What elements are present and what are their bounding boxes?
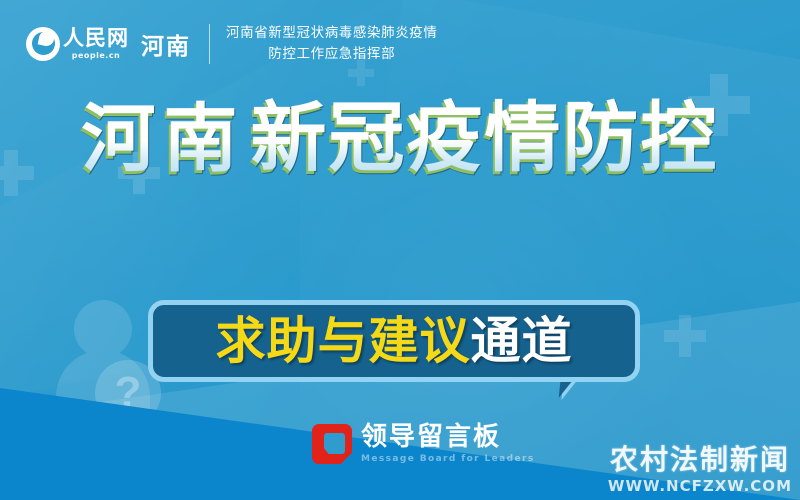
brand-domain-label: people.cn bbox=[63, 52, 129, 60]
organization-title: 河南省新型冠状病毒感染肺炎疫情 防控工作应急指挥部 bbox=[226, 23, 438, 65]
banner-plain-text: 通道 bbox=[471, 312, 573, 370]
organization-title-line1: 河南省新型冠状病毒感染肺炎疫情 bbox=[226, 23, 438, 44]
banner-text: 求助与建议通道 bbox=[216, 316, 573, 366]
help-channel-banner[interactable]: 求助与建议通道 bbox=[148, 300, 640, 382]
banner-highlight-text: 求助与建议 bbox=[216, 312, 471, 370]
brand-name-label: 人民网 bbox=[63, 28, 129, 49]
organization-title-line2: 防控工作应急指挥部 bbox=[226, 44, 438, 65]
watermark-url: WWW.NCFZXW.COM bbox=[608, 479, 792, 494]
message-board-logo-icon bbox=[312, 424, 352, 464]
message-board-logo[interactable]: 领导留言板 Message Board for Leaders bbox=[312, 424, 535, 464]
main-title-line2: 新冠疫情防控 bbox=[251, 95, 719, 181]
poster-canvas: ? 人民网 people.cn 河南 河南省新型冠状病毒感染肺炎疫情 防控工作应… bbox=[0, 0, 800, 500]
main-title-line1: 河南 bbox=[81, 98, 245, 180]
people-daily-globe-icon bbox=[26, 27, 60, 61]
brand-region-label: 河南 bbox=[141, 27, 191, 61]
header-bar: 人民网 people.cn 河南 河南省新型冠状病毒感染肺炎疫情 防控工作应急指… bbox=[0, 0, 800, 88]
header-divider bbox=[209, 24, 210, 64]
watermark-site-name: 农村法制新闻 bbox=[608, 446, 792, 474]
brand-logo[interactable]: 人民网 people.cn 河南 bbox=[26, 27, 191, 61]
watermark: 农村法制新闻 WWW.NCFZXW.COM bbox=[608, 446, 792, 494]
message-board-name-cn: 领导留言板 bbox=[361, 424, 535, 450]
message-board-name-en: Message Board for Leaders bbox=[361, 455, 535, 464]
main-title: 河南 新冠疫情防控 bbox=[0, 95, 800, 181]
